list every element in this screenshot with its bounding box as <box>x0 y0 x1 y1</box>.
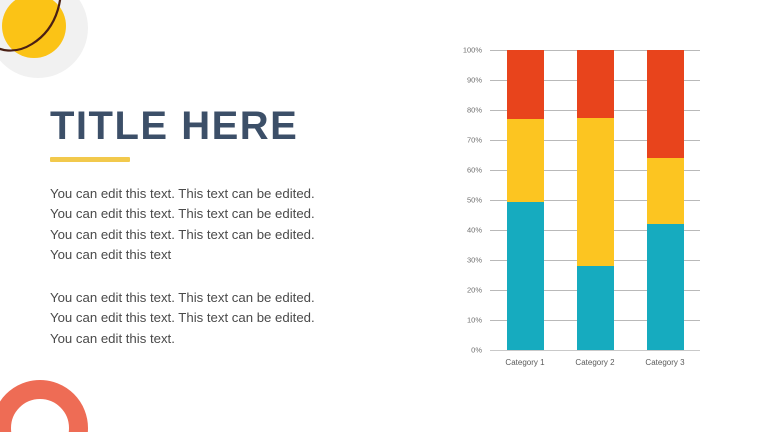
bar-segment[interactable] <box>577 266 614 350</box>
plot-area <box>490 50 700 350</box>
y-axis-tick-label: 70% <box>467 136 482 145</box>
arc-stroke-icon <box>0 0 96 86</box>
decoration-bottom-left <box>0 380 100 432</box>
y-axis-tick-label: 90% <box>467 76 482 85</box>
y-axis-tick-label: 80% <box>467 106 482 115</box>
bar-segment[interactable] <box>507 202 544 351</box>
decoration-top-left <box>0 0 96 86</box>
y-axis-tick-label: 50% <box>467 196 482 205</box>
bar-group <box>490 50 700 350</box>
text-column: TITLE HERE You can edit this text. This … <box>50 106 340 349</box>
gridline <box>490 350 700 351</box>
body-paragraph-2: You can edit this text. This text can be… <box>50 288 340 349</box>
bar-segment[interactable] <box>507 119 544 202</box>
bar-segment[interactable] <box>577 50 614 118</box>
x-axis-category-label: Category 3 <box>630 358 700 367</box>
x-axis-labels: Category 1Category 2Category 3 <box>490 358 700 367</box>
page-title: TITLE HERE <box>50 106 340 146</box>
y-axis-tick-label: 60% <box>467 166 482 175</box>
x-axis-category-label: Category 1 <box>490 358 560 367</box>
bar-segment[interactable] <box>577 118 614 267</box>
bar-segment[interactable] <box>647 158 684 224</box>
slide-canvas: TITLE HERE You can edit this text. This … <box>0 0 768 432</box>
y-axis-tick-label: 100% <box>463 46 482 55</box>
bar-segment[interactable] <box>647 50 684 158</box>
bar-stack[interactable] <box>507 50 544 350</box>
x-axis-category-label: Category 2 <box>560 358 630 367</box>
y-axis-labels: 100%90%80%70%60%50%40%30%20%10%0% <box>452 50 482 350</box>
title-underline-rule <box>50 157 130 162</box>
bar-segment[interactable] <box>647 224 684 350</box>
y-axis-tick-label: 20% <box>467 286 482 295</box>
stacked-bar-chart: 100%90%80%70%60%50%40%30%20%10%0% Catego… <box>452 50 712 385</box>
bar-segment[interactable] <box>507 50 544 119</box>
y-axis-tick-label: 10% <box>467 316 482 325</box>
y-axis-tick-label: 40% <box>467 226 482 235</box>
bar-stack[interactable] <box>647 50 684 350</box>
bar-stack[interactable] <box>577 50 614 350</box>
y-axis-tick-label: 0% <box>471 346 482 355</box>
y-axis-tick-label: 30% <box>467 256 482 265</box>
body-paragraph-1: You can edit this text. This text can be… <box>50 184 340 266</box>
coral-ring-shape <box>0 380 88 432</box>
